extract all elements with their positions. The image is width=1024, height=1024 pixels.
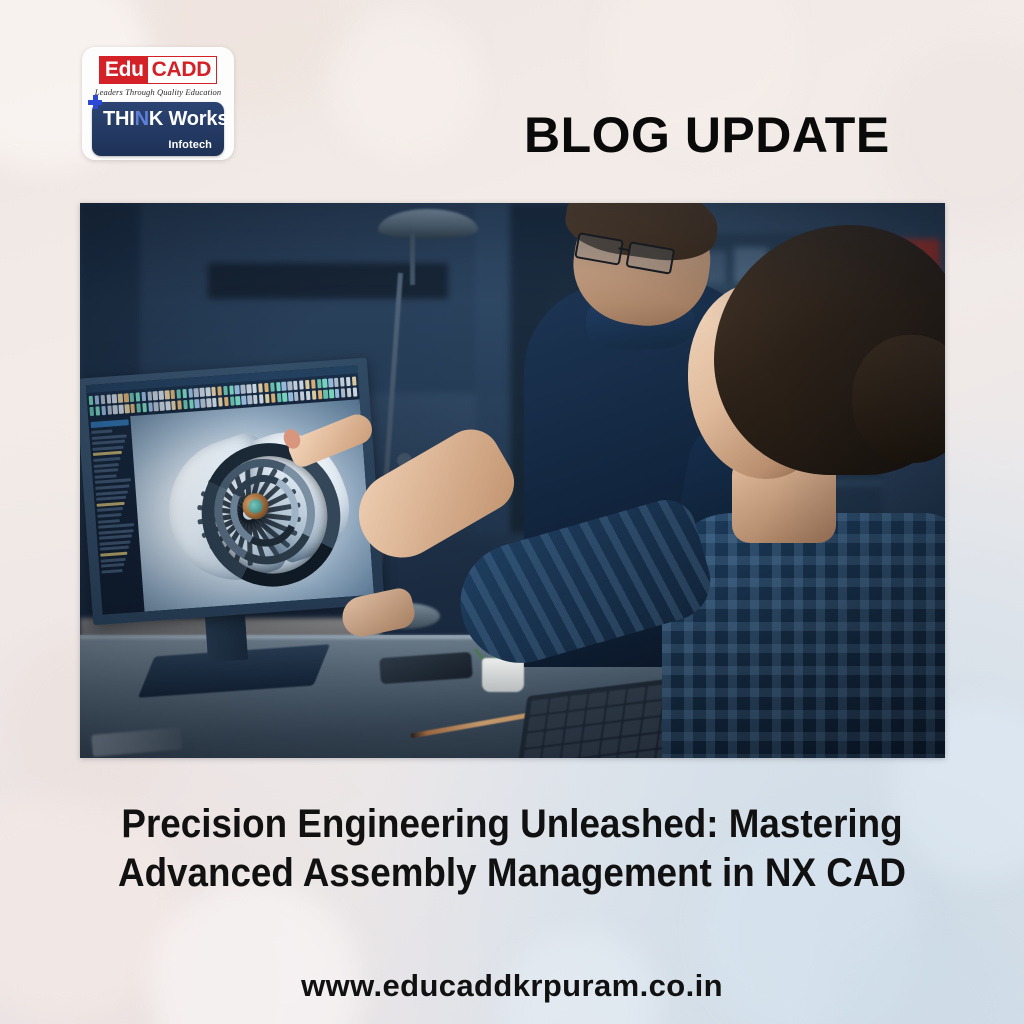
cad-toolbar-icon[interactable] [259, 394, 264, 403]
cad-tree-row[interactable] [93, 451, 122, 456]
cad-toolbar-icon[interactable] [223, 386, 228, 395]
keyboard-key[interactable] [602, 722, 621, 738]
keyboard-key[interactable] [607, 689, 626, 705]
female-engineer-plaid-shirt [662, 513, 945, 758]
keyboard-key[interactable] [583, 724, 602, 740]
cad-tree-row[interactable] [101, 569, 122, 574]
keyboard-key[interactable] [564, 727, 583, 743]
website-url: www.educaddkrpuram.co.in [62, 968, 962, 1004]
cad-toolbar-icon[interactable] [323, 390, 328, 399]
educadd-wordmark: Edu CADD [99, 56, 217, 84]
cad-tree-header [91, 419, 129, 428]
cad-toolbar-icon[interactable] [89, 407, 94, 416]
keyboard-key[interactable] [622, 720, 641, 736]
cad-toolbar-icon[interactable] [341, 388, 346, 397]
cad-toolbar-icon[interactable] [281, 382, 286, 391]
cad-toolbar-icon[interactable] [142, 403, 147, 412]
hero-photo [80, 203, 945, 758]
cad-toolbar-icon[interactable] [212, 398, 217, 407]
cad-tree-row[interactable] [99, 540, 130, 545]
cad-tree-row[interactable] [100, 546, 129, 551]
cad-toolbar-icon[interactable] [89, 396, 94, 405]
keyboard-key[interactable] [568, 694, 587, 710]
cad-toolbar-icon[interactable] [165, 390, 170, 399]
cad-tree-row[interactable] [97, 501, 125, 506]
cad-toolbar-icon[interactable] [106, 394, 111, 403]
cad-toolbar-icon[interactable] [270, 382, 275, 391]
brand-logo-card[interactable]: Edu CADD Leaders Through Quality Educati… [82, 47, 234, 160]
cad-toolbar-icon[interactable] [329, 389, 334, 398]
cad-toolbar-icon[interactable] [170, 390, 175, 399]
cad-toolbar-icon[interactable] [148, 402, 153, 411]
cad-toolbar-icon[interactable] [335, 389, 340, 398]
cad-toolbar-icon[interactable] [352, 387, 357, 396]
cad-toolbar-icon[interactable] [317, 390, 322, 399]
keyboard-key[interactable] [544, 729, 563, 745]
keyboard-key[interactable] [561, 743, 580, 758]
cad-toolbar-icon[interactable] [282, 393, 287, 402]
female-engineer [640, 225, 945, 758]
cad-toolbar-icon[interactable] [340, 377, 345, 386]
cad-toolbar-icon[interactable] [352, 376, 357, 385]
cad-tree-row[interactable] [99, 535, 132, 540]
bokeh-circle [880, 40, 1024, 230]
cad-toolbar-icon[interactable] [252, 384, 257, 393]
hero-photo-frame [80, 203, 945, 758]
cad-toolbar-icon[interactable] [300, 391, 305, 400]
article-title: Precision Engineering Unleashed: Masteri… [98, 800, 926, 898]
cad-tree-row[interactable] [94, 468, 118, 473]
cad-toolbar-icon[interactable] [224, 397, 229, 406]
cad-toolbar-icon[interactable] [258, 383, 263, 392]
cad-toolbar-icon[interactable] [154, 402, 159, 411]
cad-toolbar-icon[interactable] [271, 393, 276, 402]
cad-toolbar-icon[interactable] [176, 389, 181, 398]
cad-toolbar-icon[interactable] [253, 395, 258, 404]
cad-toolbar-icon[interactable] [311, 379, 316, 388]
cad-toolbar-icon[interactable] [247, 395, 252, 404]
cad-toolbar-icon[interactable] [124, 393, 129, 402]
cad-toolbar-icon[interactable] [347, 388, 352, 397]
cad-toolbar-icon[interactable] [136, 403, 141, 412]
cad-toolbar-icon[interactable] [195, 399, 200, 408]
keyboard-key[interactable] [605, 705, 624, 721]
cad-tree-row[interactable] [98, 523, 135, 529]
keyboard-key[interactable] [598, 755, 617, 758]
cad-toolbar-icon[interactable] [218, 397, 223, 406]
keyboard-key[interactable] [578, 757, 597, 758]
keyboard-key[interactable] [566, 710, 585, 726]
keyboard-key[interactable] [600, 738, 619, 754]
keyboard-key[interactable] [523, 748, 542, 758]
cad-tree-row[interactable] [97, 507, 123, 512]
cad-toolbar-icon[interactable] [119, 405, 124, 414]
cad-toolbar-icon[interactable] [322, 379, 327, 388]
cad-toolbar-icon[interactable] [287, 381, 292, 390]
keyboard-key[interactable] [542, 745, 561, 758]
keyboard-key[interactable] [549, 696, 568, 712]
educadd-tagline: Leaders Through Quality Education [95, 87, 221, 97]
thinkworks-name-part-1: THI [103, 108, 135, 130]
cad-tree-row[interactable] [92, 440, 125, 445]
cad-toolbar-icon[interactable] [182, 389, 187, 398]
cad-tree-row[interactable] [97, 513, 121, 518]
keyboard-key[interactable] [527, 715, 546, 731]
cad-toolbar-icon[interactable] [189, 399, 194, 408]
cad-tree-row[interactable] [99, 529, 134, 535]
cad-toolbar-icon[interactable] [241, 396, 246, 405]
cad-tree-row[interactable] [101, 557, 126, 562]
cad-toolbar-icon[interactable] [194, 388, 199, 397]
cad-tree-row[interactable] [95, 479, 131, 485]
keyboard-key[interactable] [588, 691, 607, 707]
cad-toolbar-icon[interactable] [100, 395, 105, 404]
cad-toolbar-icon[interactable] [112, 394, 117, 403]
cad-toolbar-icon[interactable] [229, 385, 234, 394]
cad-toolbar-icon[interactable] [317, 379, 322, 388]
cad-toolbar-icon[interactable] [130, 404, 135, 413]
cad-toolbar-icon[interactable] [141, 392, 146, 401]
monitor-screen [86, 365, 374, 614]
cad-toolbar-icon[interactable] [118, 394, 123, 403]
cad-toolbar-icon[interactable] [293, 381, 298, 390]
cad-toolbar-icon[interactable] [217, 386, 222, 395]
cad-toolbar-icon[interactable] [188, 388, 193, 397]
cad-toolbar-icon[interactable] [101, 406, 106, 415]
cad-toolbar-icon[interactable] [206, 398, 211, 407]
bokeh-circle [330, 10, 480, 160]
cad-toolbar-icon[interactable] [107, 405, 112, 414]
plus-cross-icon [88, 95, 102, 109]
thinkworks-name-part-2: K Works [149, 108, 228, 130]
cad-toolbar-icon[interactable] [276, 393, 281, 402]
cad-tree-row[interactable] [94, 463, 120, 468]
cad-toolbar-icon[interactable] [235, 385, 240, 394]
cad-toolbar-icon[interactable] [294, 392, 299, 401]
cad-toolbar-icon[interactable] [230, 396, 235, 405]
cad-tree-row[interactable] [98, 519, 121, 524]
cad-toolbar-icon[interactable] [246, 384, 251, 393]
cad-toolbar-icon[interactable] [265, 394, 270, 403]
cad-toolbar-icon[interactable] [334, 378, 339, 387]
cad-toolbar-icon[interactable] [125, 404, 130, 413]
cad-toolbar-icon[interactable] [299, 380, 304, 389]
cad-toolbar-icon[interactable] [171, 401, 176, 410]
cad-tree-row[interactable] [95, 484, 129, 489]
cad-tree-row[interactable] [96, 490, 128, 495]
cad-toolbar-icon[interactable] [305, 380, 310, 389]
thinkworks-subtitle: Infotech [168, 139, 212, 151]
cad-toolbar-icon[interactable] [94, 395, 99, 404]
cad-toolbar-icon[interactable] [328, 378, 333, 387]
cad-toolbar-icon[interactable] [276, 382, 281, 391]
keyboard-key[interactable] [619, 736, 638, 752]
keyboard-key[interactable] [617, 752, 636, 758]
thinkworks-name-accent: N [135, 108, 149, 130]
cad-toolbar-icon[interactable] [236, 396, 241, 405]
cad-toolbar-icon[interactable] [160, 402, 165, 411]
keyboard-key[interactable] [547, 713, 566, 729]
educadd-prefix: Edu [100, 57, 148, 83]
blog-update-poster: Edu CADD Leaders Through Quality Educati… [0, 0, 1024, 1024]
blog-update-kicker: BLOG UPDATE [524, 106, 890, 164]
cad-toolbar-icon[interactable] [177, 400, 182, 409]
cad-tree-row[interactable] [93, 457, 121, 462]
cad-toolbar-icon[interactable] [135, 392, 140, 401]
cad-tree-row[interactable] [100, 552, 127, 557]
thinkworks-plate: THINK Works Infotech [92, 102, 224, 156]
cad-tree-row[interactable] [96, 496, 126, 501]
cad-toolbar-icon[interactable] [264, 383, 269, 392]
cad-toolbar-icon[interactable] [200, 399, 205, 408]
keyboard-key[interactable] [585, 708, 604, 724]
cad-toolbar-icon[interactable] [211, 387, 216, 396]
cad-toolbar-icon[interactable] [95, 406, 100, 415]
cad-toolbar-icon[interactable] [183, 400, 188, 409]
cad-toolbar-icon[interactable] [147, 391, 152, 400]
cad-tree-row[interactable] [94, 474, 116, 479]
cad-toolbar-icon[interactable] [159, 391, 164, 400]
cad-toolbar-icon[interactable] [165, 401, 170, 410]
cad-toolbar-icon[interactable] [346, 377, 351, 386]
cad-toolbar-icon[interactable] [288, 392, 293, 401]
educadd-suffix: CADD [148, 57, 216, 83]
cad-toolbar-icon[interactable] [241, 385, 246, 394]
keyboard-key[interactable] [525, 731, 544, 747]
cad-tree-row[interactable] [91, 429, 112, 434]
wall-column-left [80, 203, 140, 393]
cad-toolbar-icon[interactable] [311, 390, 316, 399]
cad-toolbar-icon[interactable] [200, 388, 205, 397]
cad-tree-row[interactable] [101, 563, 124, 568]
desk-lamp-neck [410, 233, 415, 285]
computer-monitor[interactable] [80, 358, 385, 626]
cad-toolbar-icon[interactable] [113, 405, 118, 414]
cad-tree-row[interactable] [92, 445, 123, 450]
keyboard-key[interactable] [581, 741, 600, 757]
keyboard-key[interactable] [530, 699, 549, 715]
cad-toolbar-icon[interactable] [306, 391, 311, 400]
cad-toolbar-icon[interactable] [206, 387, 211, 396]
cad-tree-row[interactable] [92, 434, 127, 440]
cad-toolbar-icon[interactable] [130, 393, 135, 402]
thinkworks-wordmark: THINK Works [103, 108, 228, 131]
cad-toolbar-icon[interactable] [153, 391, 158, 400]
